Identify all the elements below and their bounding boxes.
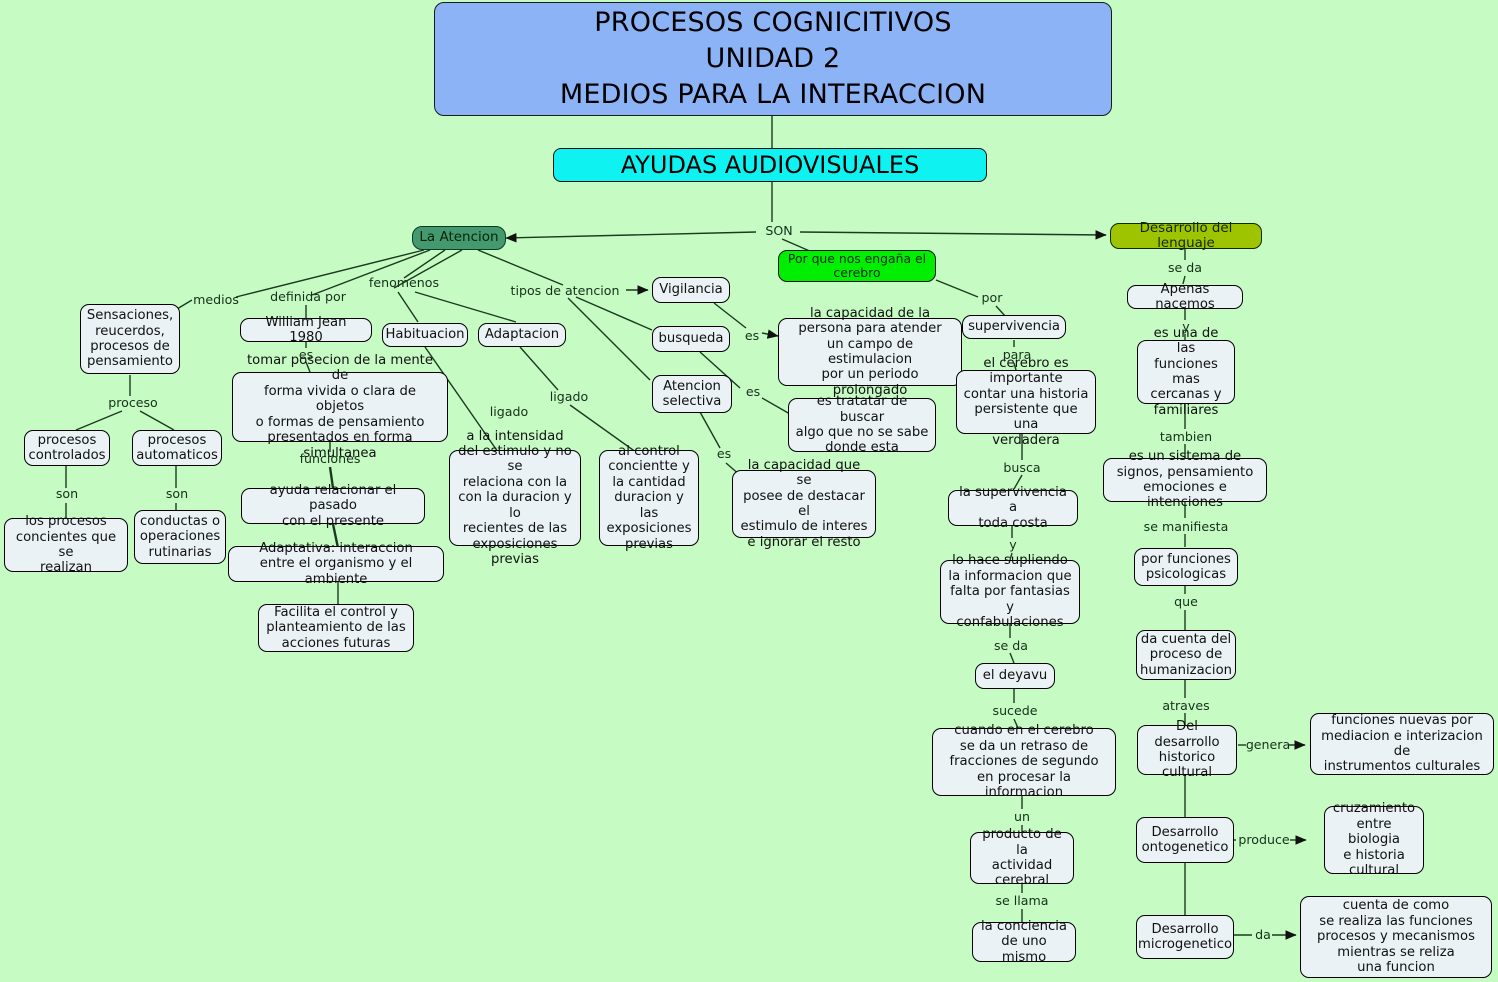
link-label-y-supervivencia: y — [1004, 538, 1022, 552]
node-por-que-nos-engana-el-cerebro[interactable]: Por que nos engaña el cerebro — [778, 250, 936, 282]
map-subtitle: AYUDAS AUDIOVISUALES — [553, 148, 987, 182]
node-capacidad-destacar-estimulo[interactable]: la capacidad que se posee de destacar el… — [732, 470, 876, 538]
node-al-control-concientte[interactable]: al control concientte y la cantidad dura… — [599, 450, 699, 546]
node-la-atencion[interactable]: La Atencion — [412, 226, 506, 250]
node-la-supervivencia-a-toda-costa[interactable]: la supervivencia a toda costa — [948, 490, 1078, 526]
link-label-es-selectiva: es — [712, 447, 736, 461]
node-conductas-o-operaciones[interactable]: conductas o operaciones rutinarias — [134, 510, 226, 564]
node-producto-actividad-cerebral[interactable]: producto de la actividad cerebral — [970, 832, 1074, 884]
link-label-definida-por: definida por — [262, 290, 354, 304]
node-habituacion[interactable]: Habituacion — [382, 323, 468, 347]
link-label-para: para — [1000, 348, 1034, 362]
node-cruzamiento-biologia-historia[interactable]: cruzamiento entre biologia e historia cu… — [1324, 806, 1424, 874]
node-cuando-en-el-cerebro[interactable]: cuando en el cerebro se da un retraso de… — [932, 728, 1116, 796]
node-a-la-intensidad[interactable]: a la intensidad del estimulo y no se rel… — [449, 450, 581, 546]
node-adaptacion[interactable]: Adaptacion — [478, 323, 566, 347]
node-william-jean-1980[interactable]: William Jean 1980 — [240, 318, 372, 342]
map-title: PROCESOS COGNICITIVOS UNIDAD 2 MEDIOS PA… — [434, 2, 1112, 116]
node-adaptativa-interaccion[interactable]: Adaptativa: interaccion entre el organis… — [228, 546, 444, 582]
node-atencion-selectiva[interactable]: Atencion selectiva — [652, 375, 732, 413]
node-cuenta-de-como[interactable]: cuenta de como se realiza las funciones … — [1300, 896, 1492, 978]
node-facilita-el-control[interactable]: Facilita el control y planteamiento de l… — [258, 604, 414, 652]
link-label-tambien: tambien — [1157, 430, 1215, 444]
node-capacidad-de-la-persona[interactable]: la capacidad de la persona para atender … — [778, 318, 962, 386]
node-procesos-controlados[interactable]: procesos controlados — [24, 430, 110, 466]
node-desarrollo-microgenetico[interactable]: Desarrollo microgenetico — [1136, 915, 1234, 959]
node-del-desarrollo-historico-cultural[interactable]: Del desarrollo historico cultural — [1137, 725, 1237, 775]
link-label-funciones: funciones — [292, 452, 368, 466]
link-label-fenomenos: fenomenos — [366, 276, 442, 290]
node-apenas-nacemos[interactable]: Apenas nacemos — [1127, 285, 1243, 309]
node-lo-hace-supliendo[interactable]: lo hace supliendo la informacion que fal… — [940, 560, 1080, 624]
link-label-un: un — [1010, 810, 1034, 824]
link-label-se-llama: se llama — [993, 894, 1051, 908]
node-desarrollo-ontogenetico[interactable]: Desarrollo ontogenetico — [1136, 817, 1234, 863]
link-label-es-busqueda: es — [741, 385, 765, 399]
link-label-atraves: atraves — [1158, 699, 1214, 713]
link-label-que: que — [1172, 595, 1200, 609]
link-label-se-manifiesta: se manifiesta — [1139, 520, 1233, 534]
node-por-funciones-psicologicas[interactable]: por funciones psicologicas — [1134, 548, 1238, 586]
link-label-se-da-deyavu: se da — [989, 639, 1033, 653]
link-label-ligado-2: ligado — [545, 390, 593, 404]
node-es-tratatar-de-buscar[interactable]: es tratatar de buscar algo que no se sab… — [788, 398, 936, 452]
link-label-tipos-de-atencion: tipos de atencion — [505, 284, 625, 298]
node-desarrollo-del-lenguaje[interactable]: Desarrollo del lenguaje — [1110, 223, 1262, 249]
node-vigilancia[interactable]: Vigilancia — [652, 277, 730, 303]
link-label-ligado-1: ligado — [485, 405, 533, 419]
node-sensaciones[interactable]: Sensaciones, reucerdos, procesos de pens… — [80, 304, 180, 374]
link-label-busca: busca — [1000, 461, 1044, 475]
link-label-da: da — [1252, 928, 1274, 942]
link-label-y-nacemos: y — [1177, 320, 1195, 334]
node-la-conciencia-de-uno-mismo[interactable]: la conciencia de uno mismo — [972, 922, 1076, 962]
concept-map-canvas: PROCESOS COGNICITIVOS UNIDAD 2 MEDIOS PA… — [0, 0, 1498, 982]
node-ayuda-relacionar[interactable]: ayuda relacionar el pasado con el presen… — [241, 488, 425, 524]
node-funciones-nuevas[interactable]: funciones nuevas por mediacion e interiz… — [1310, 713, 1494, 775]
node-los-procesos-concientes[interactable]: los procesos concientes que se realizan — [4, 518, 128, 572]
node-busqueda[interactable]: busqueda — [652, 326, 730, 352]
node-supervivencia[interactable]: supervivencia — [962, 315, 1066, 339]
node-el-deyavu[interactable]: el deyavu — [975, 663, 1055, 689]
link-label-por: por — [978, 291, 1006, 305]
node-funciones-mas-cercanas[interactable]: es una de las funciones mas cercanas y f… — [1137, 340, 1235, 404]
link-label-medios: medios — [190, 293, 242, 307]
link-label-es-vigilancia: es — [740, 329, 764, 343]
node-tomar-posecion[interactable]: tomar posecion de la mente de forma vivi… — [232, 372, 448, 442]
link-label-se-da-lenguaje: se da — [1163, 261, 1207, 275]
link-label-sucede: sucede — [990, 704, 1040, 718]
link-label-son-automaticos: son — [163, 487, 191, 501]
link-label-son-controlados: son — [53, 487, 81, 501]
node-procesos-automaticos[interactable]: procesos automaticos — [132, 430, 222, 466]
node-el-cerebro-es-importante[interactable]: el cerebro es importante contar una hist… — [956, 370, 1096, 434]
link-label-son: SON — [757, 224, 801, 238]
link-label-es-william: es — [294, 348, 318, 362]
link-label-genera: genera — [1244, 738, 1292, 752]
link-label-produce: produce — [1236, 833, 1292, 847]
node-sistema-de-signos[interactable]: es un sistema de signos, pensamiento emo… — [1103, 458, 1267, 502]
link-label-proceso: proceso — [106, 396, 160, 410]
node-da-cuenta-del-proceso[interactable]: da cuenta del proceso de humanizacion — [1136, 630, 1236, 680]
